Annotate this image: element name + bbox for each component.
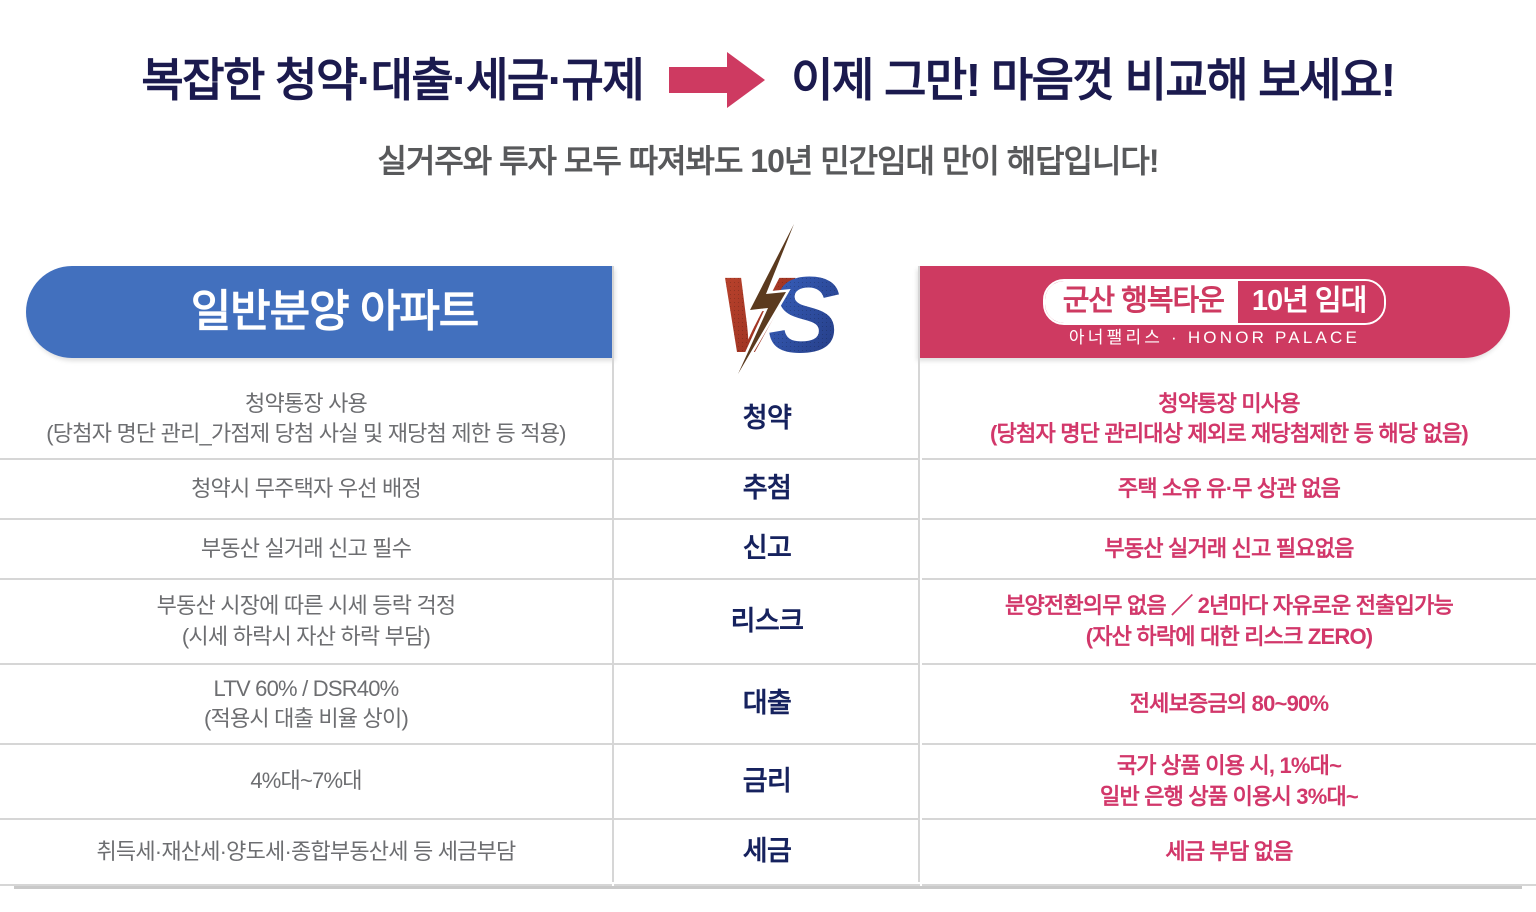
- headline-subtitle: 실거주와 투자 모두 따져봐도 10년 민간임대 만이 해답입니다!: [0, 145, 1536, 177]
- banner-general-apartment: 일반분양 아파트: [26, 266, 613, 358]
- divider-right-vertical: [918, 266, 920, 882]
- right-arrow-icon: [669, 52, 765, 108]
- table-cell-general-3: 부동산 시장에 따른 시세 등락 걱정(시세 하락시 자산 하락 부담): [0, 580, 612, 665]
- vs-logo-icon: V V S S: [690, 222, 850, 382]
- svg-text:S: S: [768, 254, 840, 375]
- table-row: 부동산 시장에 따른 시세 등락 걱정(시세 하락시 자산 하락 부담)리스크분…: [0, 580, 1536, 665]
- divider-left-vertical: [612, 266, 614, 882]
- table-cell-category-0: 청약: [614, 380, 920, 460]
- table-cell-rental-4: 전세보증금의 80~90%: [922, 665, 1536, 745]
- brand-badge-name: 군산 행복타운: [1045, 281, 1238, 323]
- table-cell-general-4: LTV 60% / DSR40%(적용시 대출 비율 상이): [0, 665, 612, 745]
- brand-badge-term: 10년 임대: [1238, 281, 1384, 323]
- table-cell-general-5: 4%대~7%대: [0, 745, 612, 820]
- table-cell-category-5: 금리: [614, 745, 920, 820]
- table-cell-category-3: 리스크: [614, 580, 920, 665]
- headline-right-text: 이제 그만! 마음껏 비교해 보세요!: [791, 57, 1394, 103]
- table-cell-category-4: 대출: [614, 665, 920, 745]
- brand-subtitle: 아너팰리스 · HONOR PALACE: [1069, 329, 1360, 346]
- table-row: 취득세·재산세·양도세·종합부동산세 등 세금부담세금세금 부담 없음: [0, 820, 1536, 886]
- table-cell-category-6: 세금: [614, 820, 920, 886]
- table-row: 청약시 무주택자 우선 배정추첨주택 소유 유·무 상관 없음: [0, 460, 1536, 520]
- table-row: LTV 60% / DSR40%(적용시 대출 비율 상이)대출전세보증금의 8…: [0, 665, 1536, 745]
- table-cell-category-1: 추첨: [614, 460, 920, 520]
- banner-honor-palace: 군산 행복타운 10년 임대 아너팰리스 · HONOR PALACE: [919, 266, 1510, 358]
- table-bottom-rule: [14, 886, 1522, 889]
- banner-left-label: 일반분양 아파트: [161, 290, 479, 334]
- table-row: 부동산 실거래 신고 필수신고부동산 실거래 신고 필요없음: [0, 520, 1536, 580]
- table-cell-rental-0: 청약통장 미사용(당첨자 명단 관리대상 제외로 재당첨제한 등 해당 없음): [922, 380, 1536, 460]
- brand-badge: 군산 행복타운 10년 임대: [1043, 279, 1387, 325]
- table-cell-rental-2: 부동산 실거래 신고 필요없음: [922, 520, 1536, 580]
- table-cell-general-2: 부동산 실거래 신고 필수: [0, 520, 612, 580]
- table-cell-rental-6: 세금 부담 없음: [922, 820, 1536, 886]
- table-cell-rental-3: 분양전환의무 없음 ／ 2년마다 자유로운 전출입가능(자산 하락에 대한 리스…: [922, 580, 1536, 665]
- table-cell-general-1: 청약시 무주택자 우선 배정: [0, 460, 612, 520]
- headline-left-text: 복잡한 청약·대출·세금·규제: [141, 57, 643, 103]
- headline: 복잡한 청약·대출·세금·규제 이제 그만! 마음껏 비교해 보세요!: [0, 52, 1536, 108]
- comparison-table: 청약통장 사용(당첨자 명단 관리_가점제 당첨 사실 및 재당첨 제한 등 적…: [0, 380, 1536, 886]
- table-cell-general-0: 청약통장 사용(당첨자 명단 관리_가점제 당첨 사실 및 재당첨 제한 등 적…: [0, 380, 612, 460]
- table-cell-rental-5: 국가 상품 이용 시, 1%대~일반 은행 상품 이용시 3%대~: [922, 745, 1536, 820]
- table-cell-category-2: 신고: [614, 520, 920, 580]
- table-row: 청약통장 사용(당첨자 명단 관리_가점제 당첨 사실 및 재당첨 제한 등 적…: [0, 380, 1536, 460]
- table-row: 4%대~7%대금리국가 상품 이용 시, 1%대~일반 은행 상품 이용시 3%…: [0, 745, 1536, 820]
- table-cell-rental-1: 주택 소유 유·무 상관 없음: [922, 460, 1536, 520]
- table-cell-general-6: 취득세·재산세·양도세·종합부동산세 등 세금부담: [0, 820, 612, 886]
